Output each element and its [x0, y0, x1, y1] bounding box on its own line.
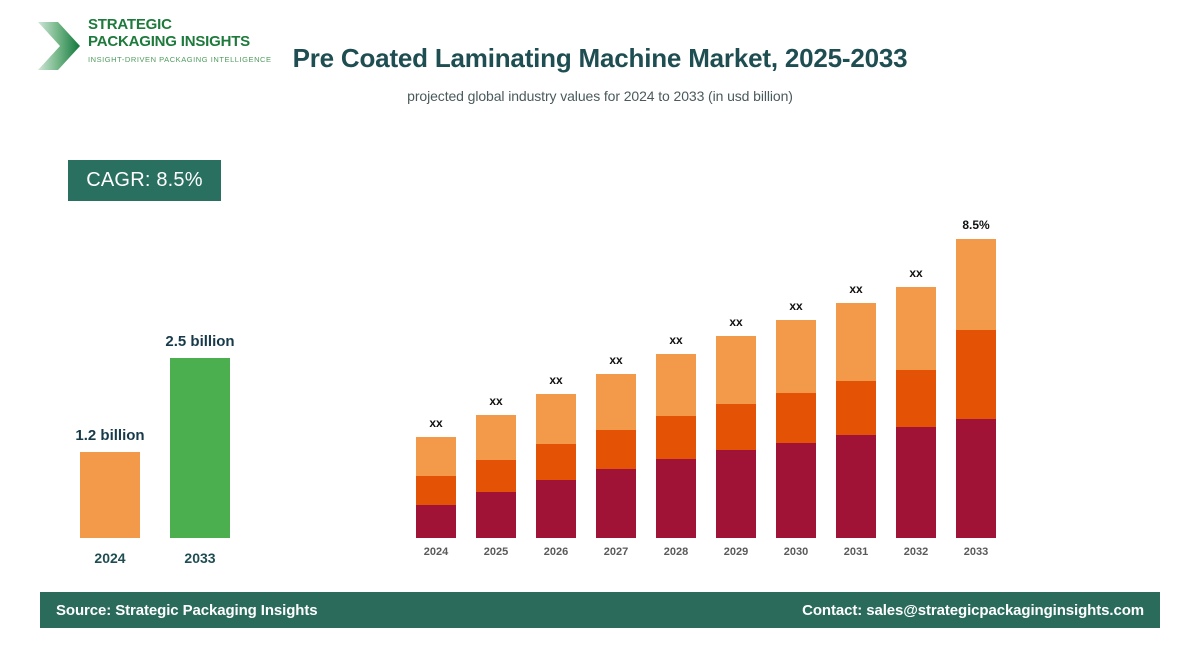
comparison-value-label-2024: 1.2 billion	[30, 427, 190, 444]
stacked-segment-segment-2-2033	[956, 330, 996, 419]
stacked-segment-segment-3-2028	[656, 354, 696, 416]
stacked-segment-segment-3-2024	[416, 437, 456, 476]
stacked-bar-column-2024: xx2024	[416, 190, 456, 560]
stacked-bar-column-2028: xx2028	[656, 190, 696, 560]
stacked-bar-year-label-2031: 2031	[826, 546, 886, 558]
page-title: Pre Coated Laminating Machine Market, 20…	[240, 40, 960, 76]
stacked-bar-year-label-2032: 2032	[886, 546, 946, 558]
stacked-bar-year-label-2026: 2026	[526, 546, 586, 558]
stacked-bar-value-label-2032: xx	[882, 266, 950, 280]
stacked-bar-column-2032: xx2032	[896, 190, 936, 560]
stacked-segment-segment-3-2033	[956, 239, 996, 330]
stacked-bar-2033	[956, 239, 996, 538]
stacked-segment-segment-3-2032	[896, 287, 936, 370]
stacked-segment-segment-2-2027	[596, 430, 636, 469]
stacked-bar-2024	[416, 437, 456, 538]
stacked-bar-column-2030: xx2030	[776, 190, 816, 560]
stacked-segment-segment-2-2028	[656, 416, 696, 459]
stacked-segment-segment-3-2031	[836, 303, 876, 381]
stacked-bar-value-label-2031: xx	[822, 282, 890, 296]
stacked-segment-segment-1-2033	[956, 419, 996, 538]
stacked-segment-segment-1-2026	[536, 480, 576, 538]
stacked-bar-column-2026: xx2026	[536, 190, 576, 560]
stacked-segment-segment-3-2026	[536, 394, 576, 444]
stacked-bar-2028	[656, 354, 696, 538]
stacked-segment-segment-2-2025	[476, 460, 516, 492]
stacked-bar-year-label-2029: 2029	[706, 546, 766, 558]
stacked-bar-column-2033: 8.5%2033	[956, 190, 996, 560]
stacked-segment-segment-1-2031	[836, 435, 876, 538]
stacked-bar-2025	[476, 415, 516, 538]
stacked-bar-column-2031: xx2031	[836, 190, 876, 560]
stacked-segment-segment-2-2029	[716, 404, 756, 450]
stacked-bar-2030	[776, 320, 816, 538]
stacked-segment-segment-1-2028	[656, 459, 696, 538]
stacked-bar-value-label-2026: xx	[522, 373, 590, 387]
stacked-bar-2031	[836, 303, 876, 538]
stacked-segment-segment-2-2024	[416, 476, 456, 505]
stacked-bar-value-label-2030: xx	[762, 299, 830, 313]
stacked-segment-segment-1-2025	[476, 492, 516, 538]
stacked-segment-segment-3-2029	[716, 336, 756, 404]
comparison-value-label-2033: 2.5 billion	[120, 333, 280, 350]
comparison-bar-2024	[80, 452, 140, 538]
brand-logo: STRATEGIC PACKAGING INSIGHTS INSIGHT-DRI…	[34, 16, 254, 78]
stacked-bar-value-label-2027: xx	[582, 353, 650, 367]
stacked-bar-column-2025: xx2025	[476, 190, 516, 560]
stacked-bar-value-label-2028: xx	[642, 333, 710, 347]
stacked-bar-column-2029: xx2029	[716, 190, 756, 560]
stacked-bar-year-label-2028: 2028	[646, 546, 706, 558]
stacked-bar-value-label-2033: 8.5%	[942, 218, 1010, 232]
stacked-segment-segment-1-2027	[596, 469, 636, 538]
footer-contact-text: Contact: sales@strategicpackaginginsight…	[802, 602, 1144, 619]
comparison-year-label-2033: 2033	[170, 550, 230, 566]
stacked-segment-segment-2-2031	[836, 381, 876, 435]
stacked-bar-value-label-2029: xx	[702, 315, 770, 329]
cagr-badge: CAGR: 8.5%	[68, 160, 221, 201]
comparison-bar-2033	[170, 358, 230, 538]
stacked-bar-year-label-2025: 2025	[466, 546, 526, 558]
footer-source-text: Source: Strategic Packaging Insights	[56, 602, 317, 619]
stacked-segment-segment-1-2032	[896, 427, 936, 538]
stacked-bar-value-label-2025: xx	[462, 394, 530, 408]
stacked-bar-year-label-2030: 2030	[766, 546, 826, 558]
stacked-bar-year-label-2024: 2024	[406, 546, 466, 558]
stacked-bar-column-2027: xx2027	[596, 190, 636, 560]
comparison-year-label-2024: 2024	[80, 550, 140, 566]
stacked-segment-segment-3-2030	[776, 320, 816, 393]
footer-bar: Source: Strategic Packaging Insights Con…	[40, 592, 1160, 628]
stacked-segment-segment-1-2030	[776, 443, 816, 538]
stacked-bar-year-label-2033: 2033	[946, 546, 1006, 558]
stacked-segment-segment-3-2027	[596, 374, 636, 430]
page-subtitle: projected global industry values for 202…	[240, 88, 960, 104]
comparison-bar-chart: 1.2 billion20242.5 billion2033	[40, 300, 300, 580]
stacked-segment-segment-1-2029	[716, 450, 756, 538]
stacked-bar-2032	[896, 287, 936, 538]
title-block: Pre Coated Laminating Machine Market, 20…	[240, 40, 960, 104]
stacked-bar-2029	[716, 336, 756, 538]
brand-name-line1: STRATEGIC	[88, 16, 272, 33]
stacked-segment-segment-1-2024	[416, 505, 456, 538]
stacked-bar-value-label-2024: xx	[402, 416, 470, 430]
stacked-bar-year-label-2027: 2027	[586, 546, 646, 558]
stacked-segment-segment-2-2030	[776, 393, 816, 443]
stacked-bar-chart: xx2024xx2025xx2026xx2027xx2028xx2029xx20…	[400, 190, 1020, 560]
stacked-bar-2026	[536, 394, 576, 538]
stacked-segment-segment-2-2032	[896, 370, 936, 427]
stacked-bar-2027	[596, 374, 636, 538]
green-chevron-icon	[34, 20, 82, 72]
stacked-segment-segment-3-2025	[476, 415, 516, 460]
stacked-segment-segment-2-2026	[536, 444, 576, 480]
